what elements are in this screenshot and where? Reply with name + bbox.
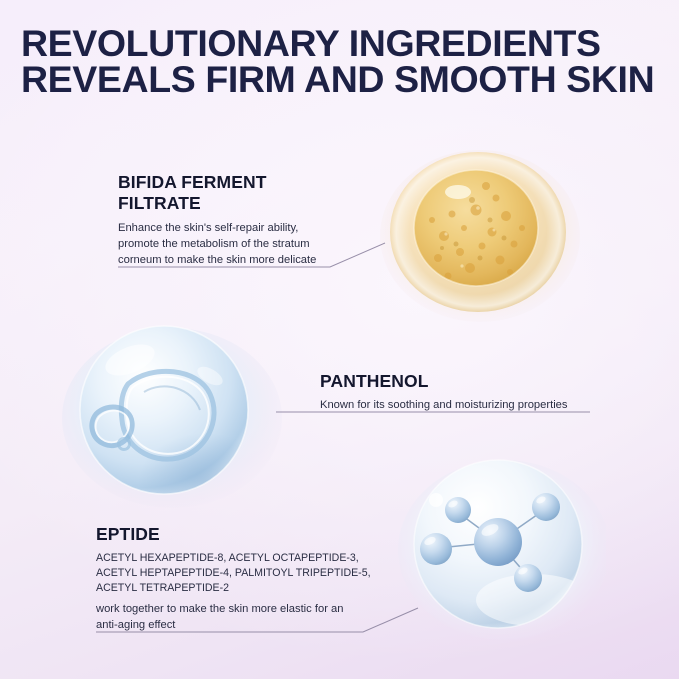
ingredient-compounds-eptide: ACETYL HEXAPEPTIDE-8, ACETYL OCTAPEPTIDE… <box>96 551 386 597</box>
ingredient-name-bifida: BIFIDA FERMENT FILTRATE <box>118 172 350 213</box>
golden-serum-droplet <box>372 140 582 325</box>
ingredient-block-eptide: EPTIDE ACETYL HEXAPEPTIDE-8, ACETYL OCTA… <box>96 524 386 634</box>
page-title: REVOLUTIONARY INGREDIENTS REVEALS FIRM A… <box>21 26 666 97</box>
ingredient-description-bifida: Enhance the skin's self-repair ability, … <box>118 221 350 269</box>
ingredient-description-panthenol: Known for its soothing and moisturizing … <box>320 398 600 414</box>
ingredient-block-bifida-ferment-filtrate: BIFIDA FERMENT FILTRATE Enhance the skin… <box>118 172 350 269</box>
ingredient-block-panthenol: PANTHENOL Known for its soothing and moi… <box>320 371 600 414</box>
ingredient-name-panthenol: PANTHENOL <box>320 371 600 392</box>
blue-water-droplet <box>60 318 286 508</box>
ingredient-description-eptide: work together to make the skin more elas… <box>96 602 386 634</box>
infographic-canvas: REVOLUTIONARY INGREDIENTS REVEALS FIRM A… <box>0 0 679 679</box>
molecule-sphere <box>392 452 606 642</box>
ingredient-name-eptide: EPTIDE <box>96 524 386 545</box>
